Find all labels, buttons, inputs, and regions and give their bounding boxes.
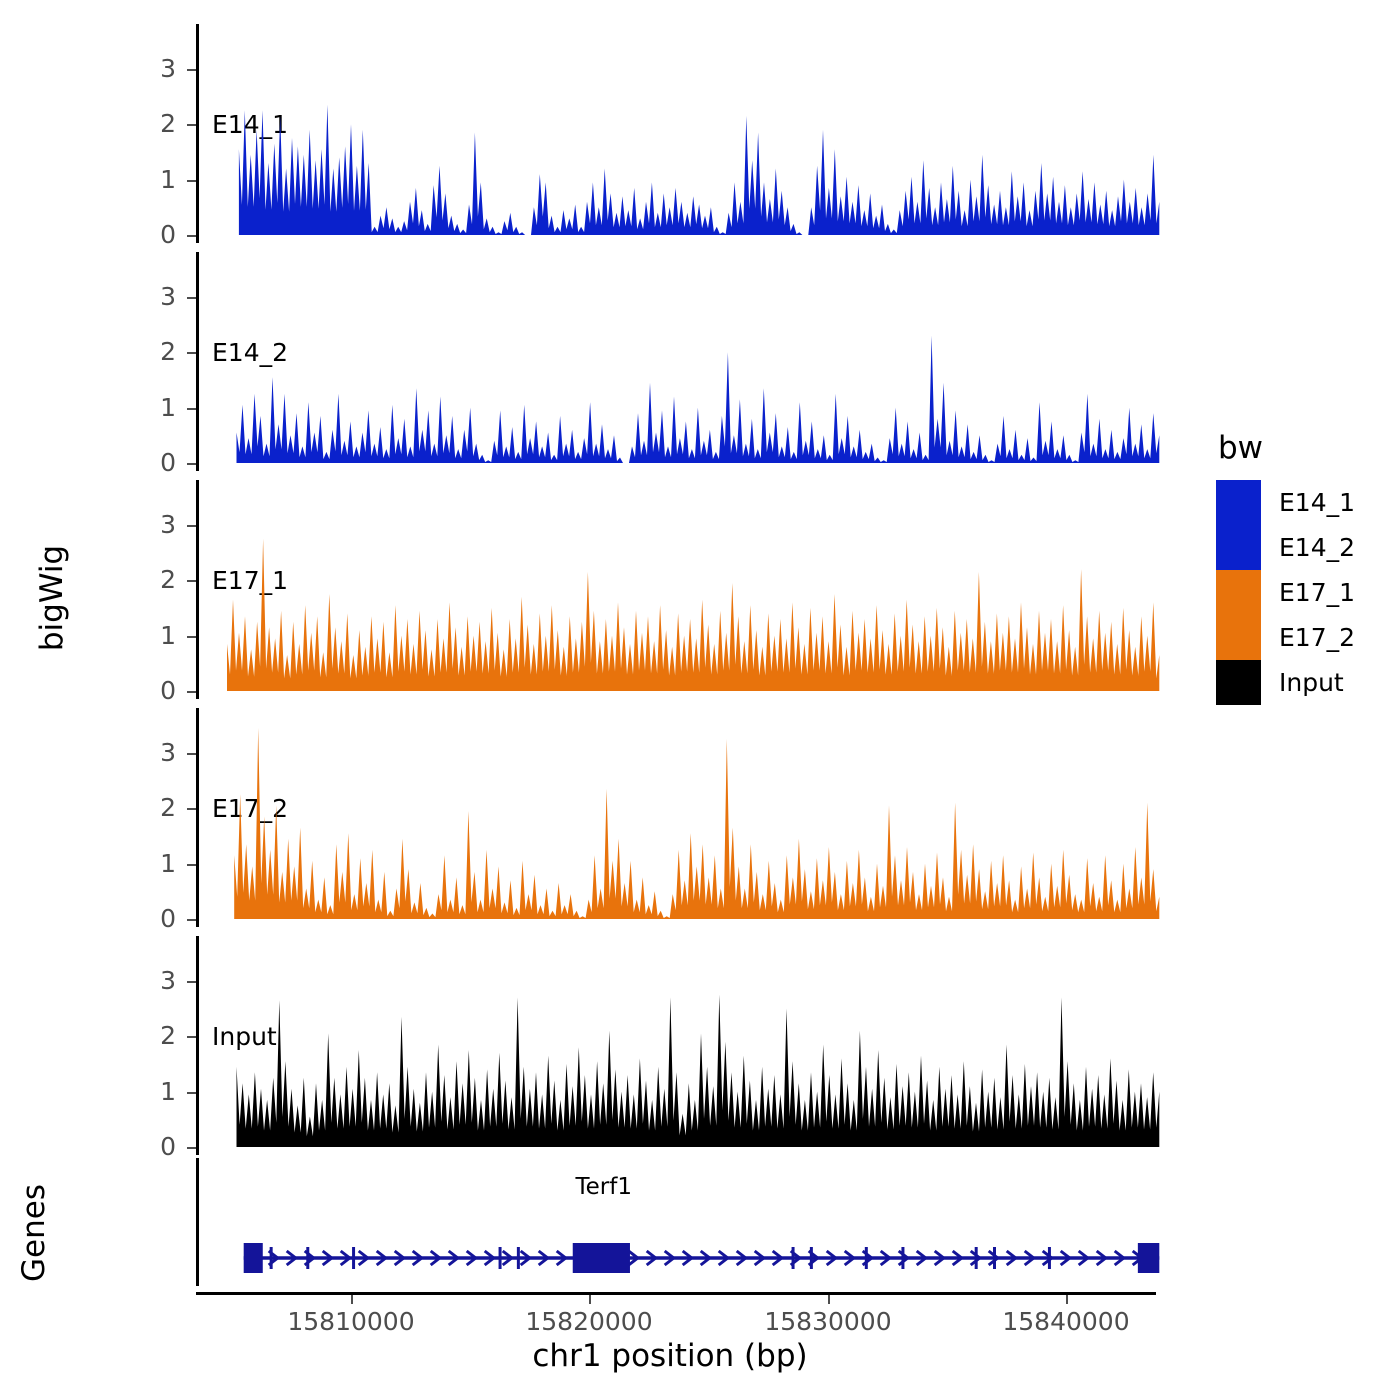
genome-browser-figure: bigWig Genes 0123E14_10123E14_20123E17_1… — [0, 0, 1400, 1400]
legend-item-e14_2[interactable]: E14_2 — [1216, 525, 1355, 570]
signal-track-e17_1[interactable] — [0, 486, 1200, 695]
signal-area-svg — [0, 942, 1200, 1151]
legend-item-input[interactable]: Input — [1216, 660, 1355, 705]
signal-track-e14_1[interactable] — [0, 30, 1200, 239]
x-tick — [828, 1295, 830, 1304]
legend-title: bw — [1218, 430, 1355, 466]
legend: bw E14_1E14_2E17_1E17_2Input — [1216, 430, 1355, 705]
signal-area-svg — [0, 714, 1200, 923]
legend-item-e17_1[interactable]: E17_1 — [1216, 570, 1355, 615]
legend-items: E14_1E14_2E17_1E17_2Input — [1216, 480, 1355, 705]
x-tick-label: 15840000 — [966, 1307, 1166, 1336]
x-tick — [351, 1295, 353, 1304]
legend-swatch — [1216, 660, 1261, 705]
legend-label: E14_2 — [1279, 533, 1355, 562]
x-tick-label: 15820000 — [489, 1307, 689, 1336]
x-tick — [1066, 1295, 1068, 1304]
legend-swatch — [1216, 615, 1261, 660]
x-tick-label: 15810000 — [251, 1307, 451, 1336]
legend-swatch — [1216, 570, 1261, 615]
x-axis-title: chr1 position (bp) — [190, 1338, 1150, 1374]
signal-area-svg — [0, 30, 1200, 239]
signal-track-input[interactable] — [0, 942, 1200, 1151]
x-tick-label: 15830000 — [728, 1307, 928, 1336]
legend-label: E14_1 — [1279, 488, 1355, 517]
legend-item-e14_1[interactable]: E14_1 — [1216, 480, 1355, 525]
gene-label: Terf1 — [575, 1174, 631, 1200]
gene-model-track[interactable]: Terf1 — [196, 1140, 1176, 1285]
legend-item-e17_2[interactable]: E17_2 — [1216, 615, 1355, 660]
gene-exon-box — [244, 1243, 263, 1273]
legend-label: E17_2 — [1279, 623, 1355, 652]
gene-model-svg — [196, 1140, 1176, 1285]
signal-track-e14_2[interactable] — [0, 258, 1200, 467]
genes-axis-title: Genes — [16, 1163, 52, 1303]
gene-exon-box — [1138, 1243, 1159, 1273]
legend-label: E17_1 — [1279, 578, 1355, 607]
x-axis-line — [196, 1292, 1156, 1295]
gene-exon-box — [573, 1243, 630, 1273]
legend-label: Input — [1279, 668, 1344, 697]
x-tick — [589, 1295, 591, 1304]
legend-swatch — [1216, 480, 1261, 525]
legend-swatch — [1216, 525, 1261, 570]
signal-track-e17_2[interactable] — [0, 714, 1200, 923]
signal-area-svg — [0, 486, 1200, 695]
signal-area-svg — [0, 258, 1200, 467]
